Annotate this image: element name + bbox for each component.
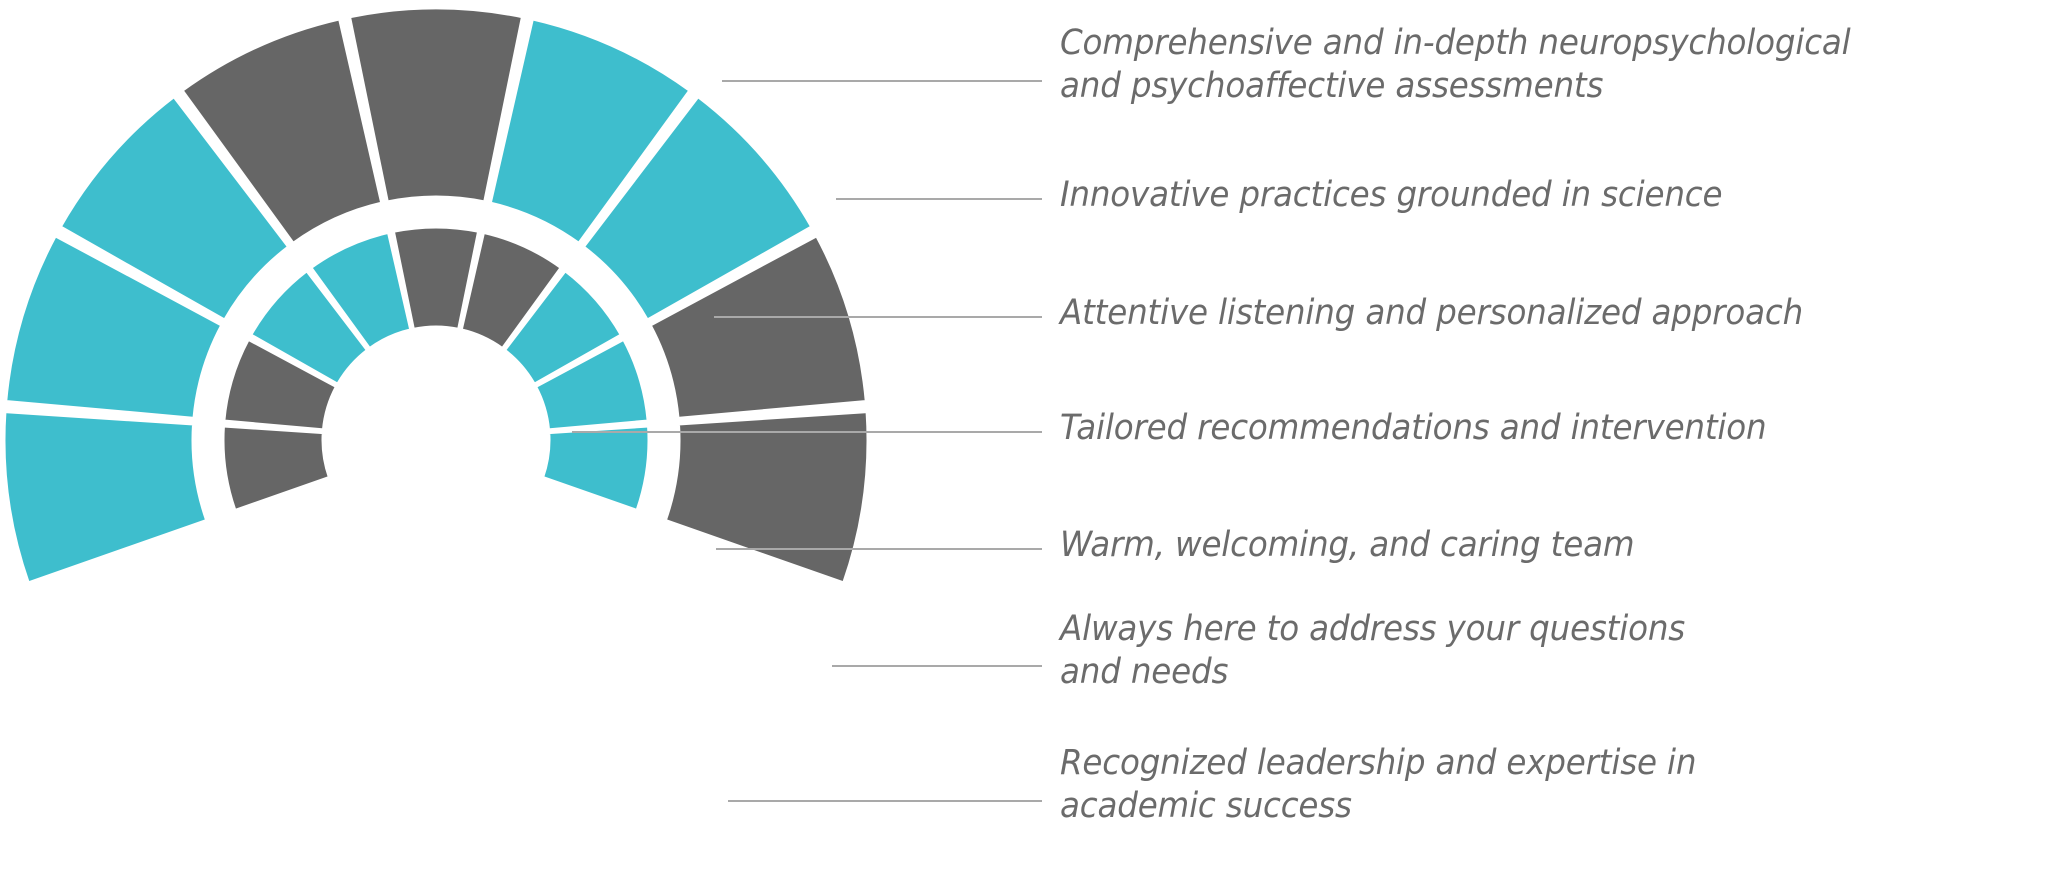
label-comprehensive-assessments: Comprehensive and in-depth neuropsycholo… xyxy=(1060,22,1851,107)
leader-line-3 xyxy=(714,316,1042,318)
infographic-canvas: Comprehensive and in-depth neuropsycholo… xyxy=(0,0,2048,879)
leader-line-5 xyxy=(716,548,1042,550)
leader-line-1 xyxy=(722,80,1042,82)
label-innovative-practices: Innovative practices grounded in science xyxy=(1060,174,1722,217)
label-column: Comprehensive and in-depth neuropsycholo… xyxy=(0,0,2048,879)
label-warm-team: Warm, welcoming, and caring team xyxy=(1060,524,1634,567)
label-recognized-leadership: Recognized leadership and expertise in a… xyxy=(1060,742,1696,827)
leader-line-4 xyxy=(572,431,1042,433)
label-always-here: Always here to address your questions an… xyxy=(1060,608,1685,693)
leader-line-7 xyxy=(728,800,1042,802)
label-attentive-listening: Attentive listening and personalized app… xyxy=(1060,292,1803,335)
leader-line-6 xyxy=(832,665,1042,667)
leader-line-2 xyxy=(836,198,1042,200)
label-tailored-recommendations: Tailored recommendations and interventio… xyxy=(1060,407,1766,450)
